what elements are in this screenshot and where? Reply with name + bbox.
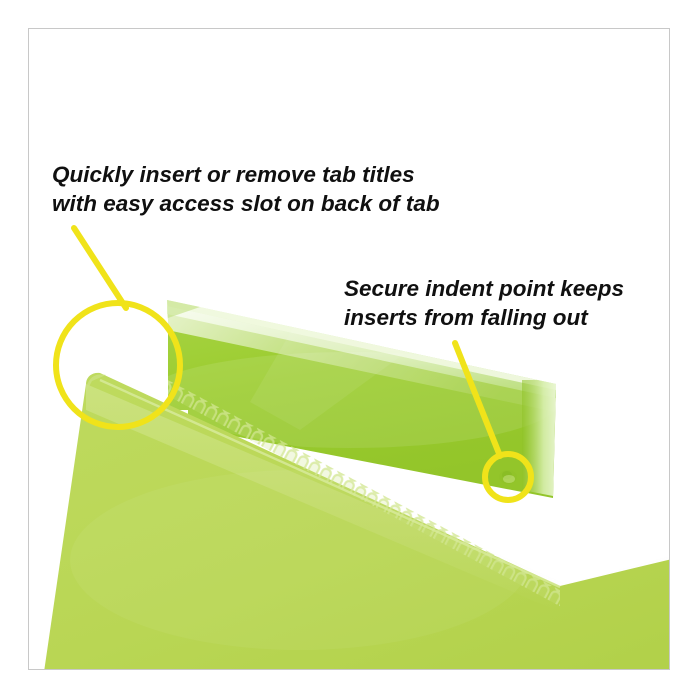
product-illustration <box>28 28 670 670</box>
product-feature-image: Inserts Won’t Fall Out <box>0 0 700 700</box>
secure-indent-point <box>499 470 517 484</box>
product-photo-frame <box>28 28 670 670</box>
